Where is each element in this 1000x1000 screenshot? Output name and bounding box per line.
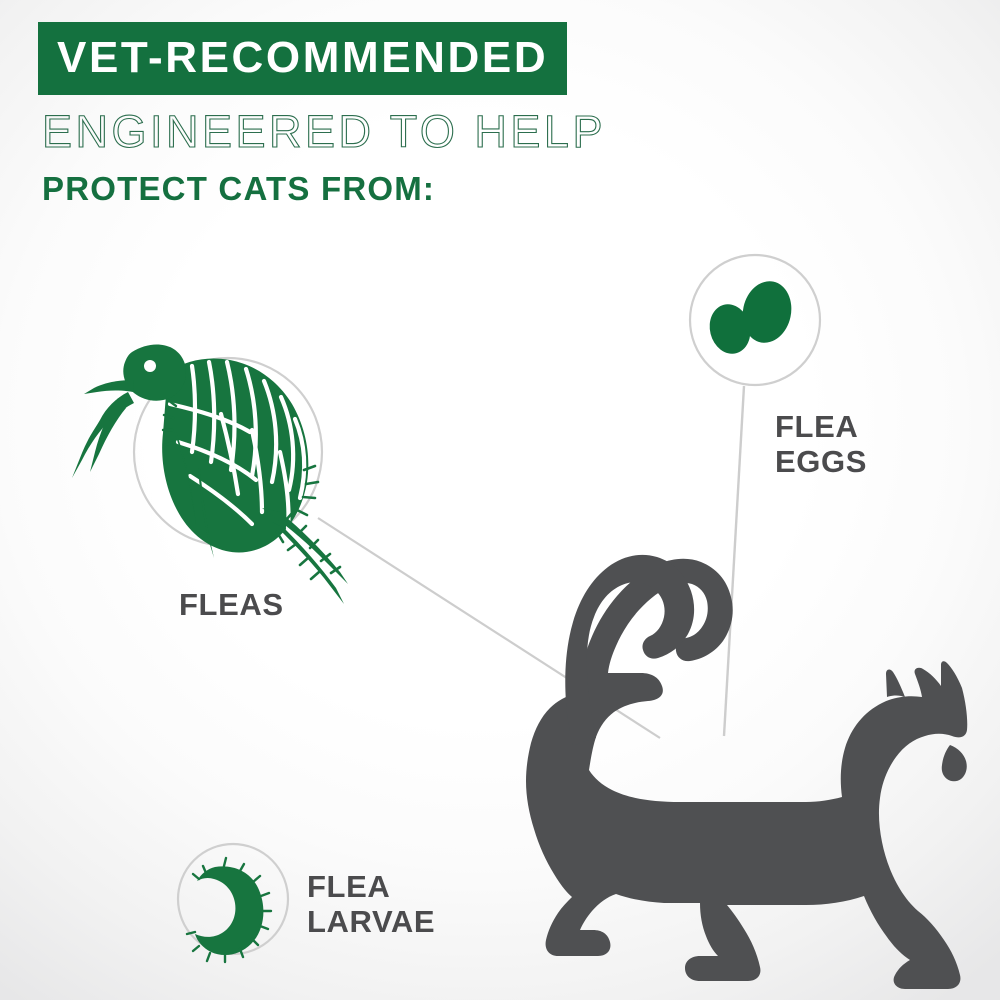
cat-silhouette: [526, 555, 967, 989]
flea-eggs-icon: [705, 277, 797, 358]
callout-flea-eggs[interactable]: [690, 255, 820, 385]
leader-line-flea-eggs: [724, 386, 744, 736]
callout-label-flea-larvae: FLEA LARVAE: [307, 870, 435, 939]
artwork-layer: [0, 0, 1000, 1000]
infographic-poster: VET-RECOMMENDED ENGINEERED TO HELP PROTE…: [0, 0, 1000, 1000]
flea-icon: [72, 345, 348, 604]
callout-label-fleas: FLEAS: [179, 588, 284, 623]
callout-label-flea-eggs: FLEA EGGS: [775, 410, 867, 479]
callout-flea-larvae[interactable]: [178, 844, 288, 962]
callout-fleas[interactable]: [72, 345, 348, 604]
flea-larvae-icon: [187, 858, 271, 962]
